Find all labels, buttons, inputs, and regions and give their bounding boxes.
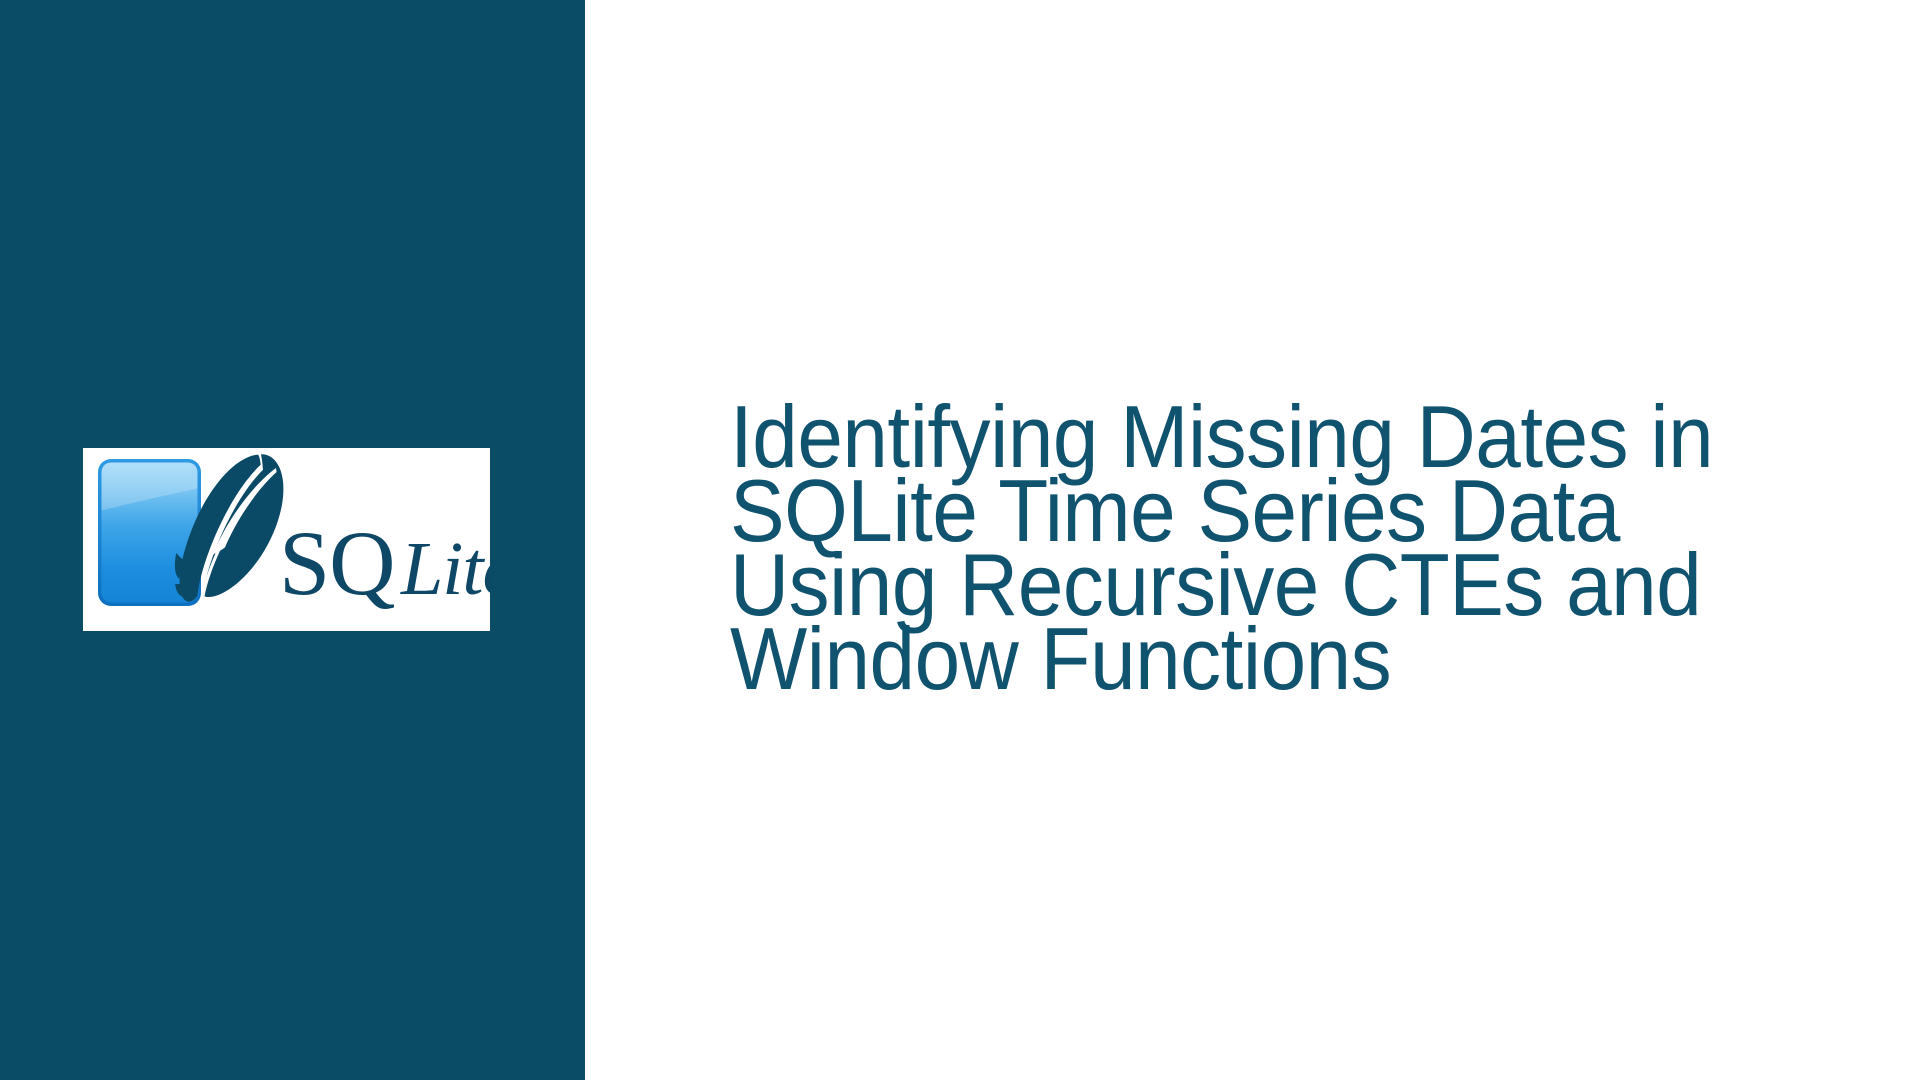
page-title: Identifying Missing Dates in SQLite Time… [730,400,1725,696]
sqlite-wordmark: SQ Lite [279,512,490,614]
svg-text:Lite: Lite [400,527,490,611]
title-block: Identifying Missing Dates in SQLite Time… [730,400,1800,696]
svg-text:SQ: SQ [279,512,395,614]
sqlite-logo: SQ Lite [83,448,490,631]
accent-panel: SQ Lite [0,0,585,1080]
sqlite-logo-artwork: SQ Lite [83,448,490,631]
title-slide: SQ Lite Identifying Missing Dates in SQL… [0,0,1920,1080]
